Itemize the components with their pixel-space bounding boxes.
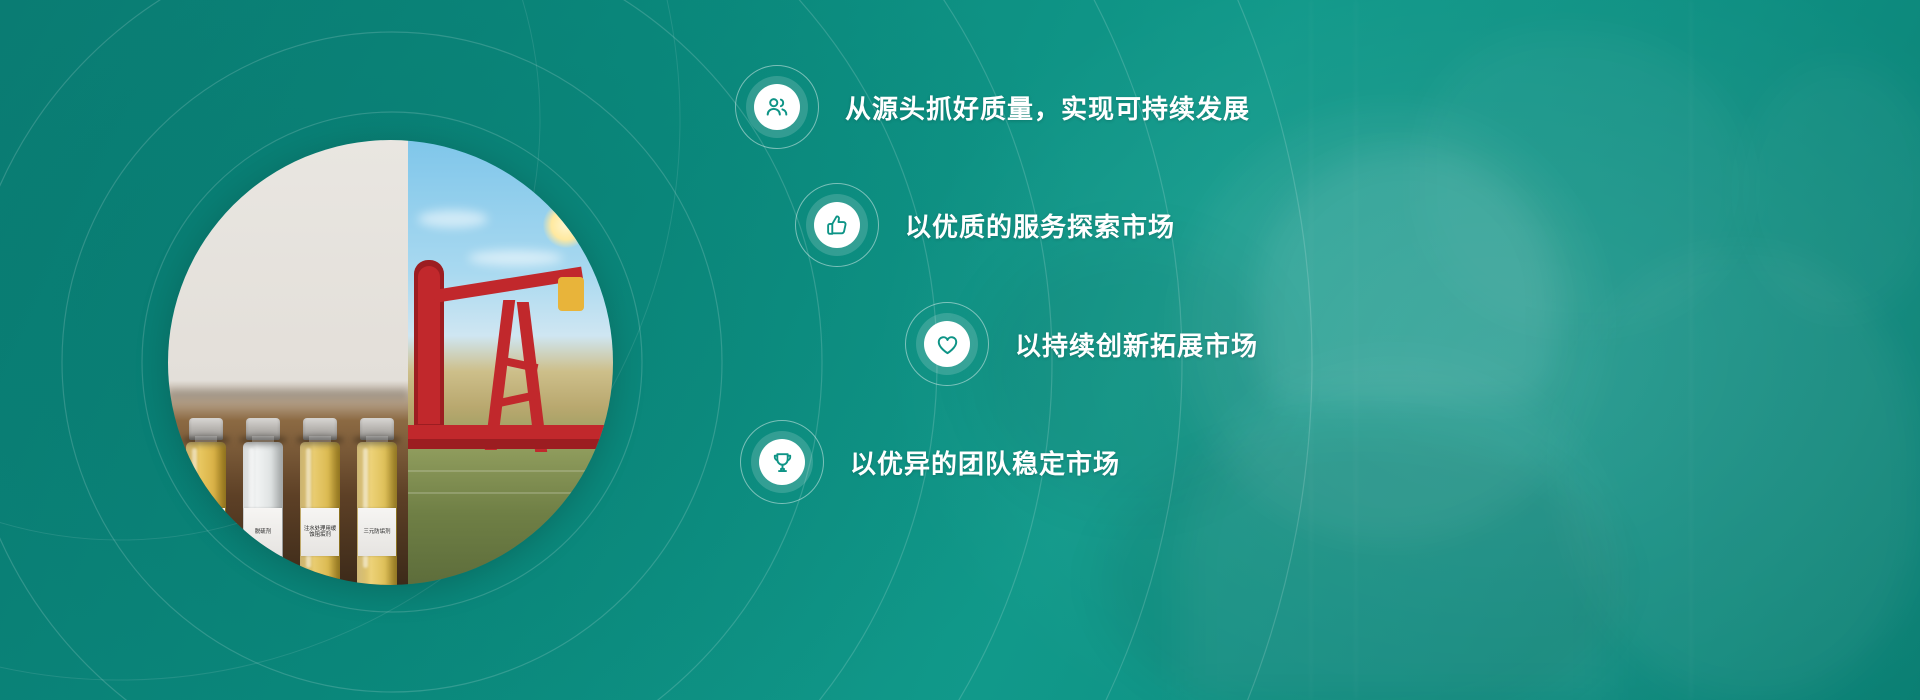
photo-bottles: 硫化物抑制剂 脱硫剂 注水处理用缓蚀阻垢剂 xyxy=(168,140,408,585)
feature-icon-ring xyxy=(735,65,819,149)
feature-list: 从源头抓好质量，实现可持续发展 以优质的服务探索市场 xyxy=(700,0,1920,700)
field-line xyxy=(408,470,613,472)
hero-photo-circle: 硫化物抑制剂 脱硫剂 注水处理用缓蚀阻垢剂 xyxy=(168,140,613,585)
feature-label: 以持续创新拓展市场 xyxy=(1015,326,1258,363)
feature-item-innovation[interactable]: 以持续创新拓展市场 xyxy=(905,302,1258,386)
bottle-label: 注水处理用缓蚀阻垢剂 xyxy=(301,508,339,556)
bottle-label: 脱硫剂 xyxy=(244,508,282,556)
field-line xyxy=(408,492,613,494)
feature-icon-ring xyxy=(905,302,989,386)
feature-label: 以优质的服务探索市场 xyxy=(905,207,1175,244)
feature-icon-ring xyxy=(795,183,879,267)
bottle-label: 三元防垢剂 xyxy=(358,508,396,556)
pumpjack-horsehead xyxy=(558,277,584,311)
feature-label: 以优异的团队稳定市场 xyxy=(850,444,1120,481)
bottle-label: 硫化物抑制剂 xyxy=(187,508,225,556)
trophy-icon xyxy=(759,439,805,485)
photo-pumpjack: 注水井除垢剂 xyxy=(408,140,613,585)
pumpjack-skid xyxy=(408,439,613,449)
cloud xyxy=(468,250,563,266)
shelf-shadow xyxy=(168,389,408,399)
feature-icon-ring xyxy=(740,420,824,504)
feature-item-quality[interactable]: 从源头抓好质量，实现可持续发展 xyxy=(735,65,1250,149)
heart-icon xyxy=(924,321,970,367)
thumbs-up-icon xyxy=(814,202,860,248)
feature-item-team[interactable]: 以优异的团队稳定市场 xyxy=(740,420,1120,504)
cloud xyxy=(418,210,488,228)
users-icon xyxy=(754,84,800,130)
feature-label: 从源头抓好质量，实现可持续发展 xyxy=(845,89,1250,126)
feature-item-service[interactable]: 以优质的服务探索市场 xyxy=(795,183,1175,267)
pumpjack-base xyxy=(408,425,613,439)
banner-stage: 硫化物抑制剂 脱硫剂 注水处理用缓蚀阻垢剂 xyxy=(0,0,1920,700)
sun xyxy=(543,202,589,248)
